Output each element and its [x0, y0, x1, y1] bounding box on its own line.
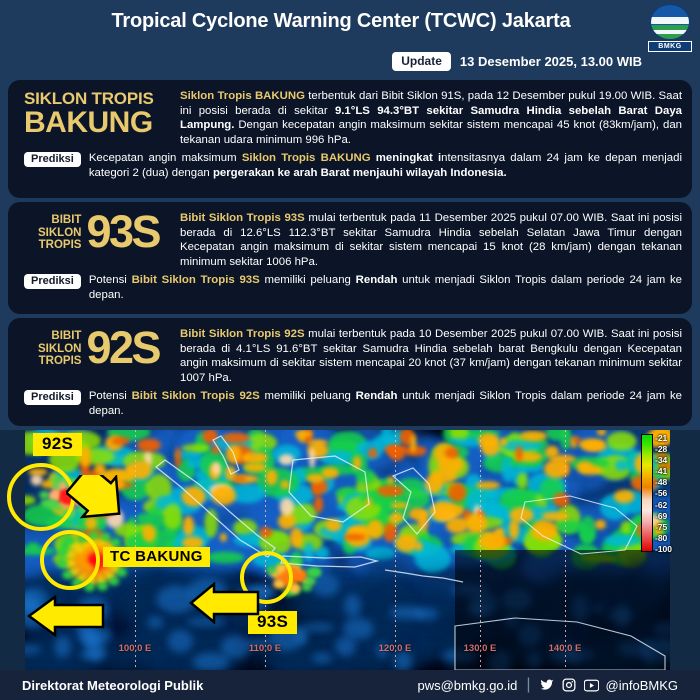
page-title: Tropical Cyclone Warning Center (TCWC) J…	[0, 10, 700, 33]
colorbar-tick: -69	[655, 512, 672, 521]
arrow-93s-direction	[188, 582, 260, 624]
bibit-92s-title-block: BIBIT SIKLON TROPIS 92S	[18, 326, 176, 370]
footer-contact: pws@bmkg.go.id | @infoBMKG	[417, 676, 678, 694]
bibit-92s-prediksi-text: Potensi Bibit Siklon Tropis 92S memiliki…	[81, 389, 682, 418]
bibit-93s-label-line2: SIKLON	[38, 227, 81, 240]
colorbar-tick: -48	[655, 478, 672, 487]
bibit-93s-prediksi-text: Potensi Bibit Siklon Tropis 93S memiliki…	[81, 273, 682, 302]
card-bibit-siklon-92s: BIBIT SIKLON TROPIS 92S Bibit Siklon Tro…	[8, 318, 692, 426]
colorbar-tick: -100	[655, 545, 672, 554]
bibit-93s-prediksi-row: Prediksi Potensi Bibit Siklon Tropis 93S…	[18, 273, 682, 302]
colorbar-tick: -21	[655, 434, 672, 443]
bibit-93s-body-text: Bibit Siklon Tropis 93S mulai terbentuk …	[176, 210, 682, 269]
bibit-92s-label-line1: BIBIT	[38, 330, 81, 343]
longitude-label: 140.0 E	[549, 643, 582, 654]
colorbar-tick: -62	[655, 501, 672, 510]
colorbar-tick: -28	[655, 445, 672, 454]
longitude-label: 100.0 E	[119, 643, 152, 654]
satellite-map: 100.0 E110.0 E120.0 E130.0 E140.0 E 92S …	[0, 430, 700, 670]
longitude-label: 110.0 E	[249, 643, 281, 654]
colorbar-tick: -41	[655, 467, 672, 476]
youtube-icon[interactable]	[584, 678, 599, 693]
page-header: Tropical Cyclone Warning Center (TCWC) J…	[0, 0, 700, 78]
annotation-circle-bakung	[40, 530, 100, 590]
footer-handle[interactable]: @infoBMKG	[606, 678, 678, 693]
page-footer: Direktorat Meteorologi Publik pws@bmkg.g…	[0, 670, 700, 700]
bibit-92s-label-line2: SIKLON	[38, 343, 81, 356]
colorbar-tick: -75	[655, 523, 672, 532]
annotation-circle-92s	[7, 463, 75, 531]
bakung-title-block: SIKLON TROPIS BAKUNG	[18, 88, 176, 138]
prediksi-badge: Prediksi	[24, 152, 81, 167]
update-row: Update 13 Desember 2025, 13.00 WIB	[392, 52, 642, 71]
bibit-93s-title-block: BIBIT SIKLON TROPIS 93S	[18, 210, 176, 254]
twitter-icon[interactable]	[540, 678, 555, 693]
card-siklon-tropis-bakung: SIKLON TROPIS BAKUNG Siklon Tropis BAKUN…	[8, 80, 692, 198]
arrow-92s-direction	[66, 475, 128, 527]
longitude-gridline	[565, 430, 566, 670]
bibit-92s-prediksi-row: Prediksi Potensi Bibit Siklon Tropis 92S…	[18, 389, 682, 418]
instagram-icon[interactable]	[562, 678, 577, 693]
longitude-label: 130.0 E	[464, 643, 497, 654]
footer-organization: Direktorat Meteorologi Publik	[22, 678, 203, 693]
bmkg-logo: BMKG	[648, 4, 692, 50]
bibit-92s-body-text: Bibit Siklon Tropis 92S mulai terbentuk …	[176, 326, 682, 385]
longitude-gridline	[265, 430, 266, 670]
colorbar-tick-labels: -21-28-34-41-48-56-62-69-75-80-100	[655, 434, 672, 554]
colorbar-tick: -34	[655, 456, 672, 465]
bakung-body-text: Siklon Tropis BAKUNG terbentuk dari Bibi…	[176, 88, 682, 147]
bakung-prediksi-text: Kecepatan angin maksimum Siklon Tropis B…	[81, 151, 682, 180]
update-badge: Update	[392, 52, 451, 71]
longitude-label: 120.0 E	[379, 643, 412, 654]
footer-separator: |	[526, 676, 530, 694]
bibit-93s-code: 93S	[86, 209, 159, 254]
bmkg-logo-text: BMKG	[648, 41, 692, 52]
bibit-92s-label-line3: TROPIS	[38, 355, 81, 368]
bibit-92s-code: 92S	[86, 325, 159, 370]
bmkg-logo-emblem	[650, 4, 690, 40]
infographic-page: Tropical Cyclone Warning Center (TCWC) J…	[0, 0, 700, 700]
footer-email[interactable]: pws@bmkg.go.id	[417, 678, 517, 693]
colorbar-gradient	[641, 434, 653, 552]
bibit-93s-label-line1: BIBIT	[38, 214, 81, 227]
annotation-label-92s: 92S	[33, 433, 82, 456]
colorbar-tick: -56	[655, 489, 672, 498]
temperature-colorbar: -21-28-34-41-48-56-62-69-75-80-100	[641, 434, 672, 554]
prediksi-badge: Prediksi	[24, 390, 81, 405]
update-date: 13 Desember 2025, 13.00 WIB	[460, 54, 642, 69]
annotation-label-tc-bakung: TC BAKUNG	[103, 547, 210, 567]
bakung-title-line2: BAKUNG	[24, 108, 176, 138]
longitude-gridline	[395, 430, 396, 670]
colorbar-tick: -80	[655, 534, 672, 543]
arrow-bakung-direction	[25, 595, 105, 637]
bakung-prediksi-row: Prediksi Kecepatan angin maksimum Siklon…	[18, 151, 682, 180]
prediksi-badge: Prediksi	[24, 274, 81, 289]
card-bibit-siklon-93s: BIBIT SIKLON TROPIS 93S Bibit Siklon Tro…	[8, 202, 692, 314]
longitude-gridline	[480, 430, 481, 670]
bakung-title-line1: SIKLON TROPIS	[24, 90, 176, 107]
bibit-93s-label-line3: TROPIS	[38, 239, 81, 252]
